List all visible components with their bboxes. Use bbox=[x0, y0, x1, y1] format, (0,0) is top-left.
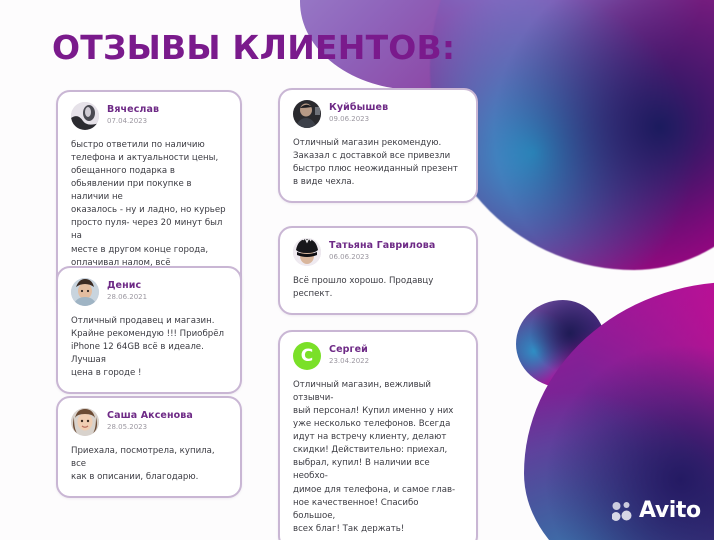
reviews-poster: ОТЗЫВЫ КЛИЕНТОВ: Вячеслав 07.04.2023 быс… bbox=[0, 0, 714, 540]
review-date: 06.06.2023 bbox=[329, 253, 435, 262]
review-text: Всё прошло хорошо. Продавцу респект. bbox=[293, 275, 463, 301]
review-text: Отличный продавец и магазин. Крайне реко… bbox=[71, 315, 227, 380]
decorative-blob-small-circle bbox=[516, 300, 606, 388]
avito-logo: Avito bbox=[612, 500, 701, 522]
review-header: Саша Аксенова 28.05.2023 bbox=[71, 408, 227, 436]
review-meta: Вячеслав 07.04.2023 bbox=[107, 105, 159, 126]
review-date: 07.04.2023 bbox=[107, 117, 159, 126]
review-card: Денис 28.06.2021 Отличный продавец и маг… bbox=[56, 266, 242, 394]
user-photo-avatar bbox=[293, 100, 321, 128]
user-photo-avatar bbox=[71, 278, 99, 306]
reviewer-name: Саша Аксенова bbox=[107, 411, 193, 422]
reviewer-name: Денис bbox=[107, 281, 147, 292]
review-text: Приехала, посмотрела, купила, все как в … bbox=[71, 445, 227, 484]
review-card: С Сергей 23.04.2022 Отличный магазин, ве… bbox=[278, 330, 478, 540]
initial-avatar: С bbox=[293, 342, 321, 370]
review-header: Денис 28.06.2021 bbox=[71, 278, 227, 306]
review-header: Куйбышев 09.06.2023 bbox=[293, 100, 463, 128]
review-meta: Денис 28.06.2021 bbox=[107, 281, 147, 302]
review-header: С Сергей 23.04.2022 bbox=[293, 342, 463, 370]
avito-dots-icon bbox=[612, 501, 634, 521]
review-text: Отличный магазин, вежливый отзывчи- вый … bbox=[293, 379, 463, 536]
reviewer-name: Вячеслав bbox=[107, 105, 159, 116]
reviewer-name: Куйбышев bbox=[329, 103, 388, 114]
review-card: Куйбышев 09.06.2023 Отличный магазин рек… bbox=[278, 88, 478, 203]
user-photo-avatar bbox=[71, 102, 99, 130]
avito-wordmark: Avito bbox=[639, 500, 701, 522]
review-card: Татьяна Гаврилова 06.06.2023 Всё прошло … bbox=[278, 226, 478, 315]
review-date: 23.04.2022 bbox=[329, 357, 369, 366]
review-date: 28.06.2021 bbox=[107, 293, 147, 302]
review-meta: Сергей 23.04.2022 bbox=[329, 345, 369, 366]
review-header: Вячеслав 07.04.2023 bbox=[71, 102, 227, 130]
user-photo-avatar bbox=[293, 238, 321, 266]
review-header: Татьяна Гаврилова 06.06.2023 bbox=[293, 238, 463, 266]
review-meta: Куйбышев 09.06.2023 bbox=[329, 103, 388, 124]
review-meta: Татьяна Гаврилова 06.06.2023 bbox=[329, 241, 435, 262]
review-card: Саша Аксенова 28.05.2023 Приехала, посмо… bbox=[56, 396, 242, 498]
reviewer-name: Сергей bbox=[329, 345, 369, 356]
review-date: 09.06.2023 bbox=[329, 115, 388, 124]
review-date: 28.05.2023 bbox=[107, 423, 193, 432]
page-title: ОТЗЫВЫ КЛИЕНТОВ: bbox=[52, 28, 455, 67]
reviewer-name: Татьяна Гаврилова bbox=[329, 241, 435, 252]
review-meta: Саша Аксенова 28.05.2023 bbox=[107, 411, 193, 432]
user-photo-avatar bbox=[71, 408, 99, 436]
review-text: Отличный магазин рекомендую. Заказал с д… bbox=[293, 137, 463, 189]
